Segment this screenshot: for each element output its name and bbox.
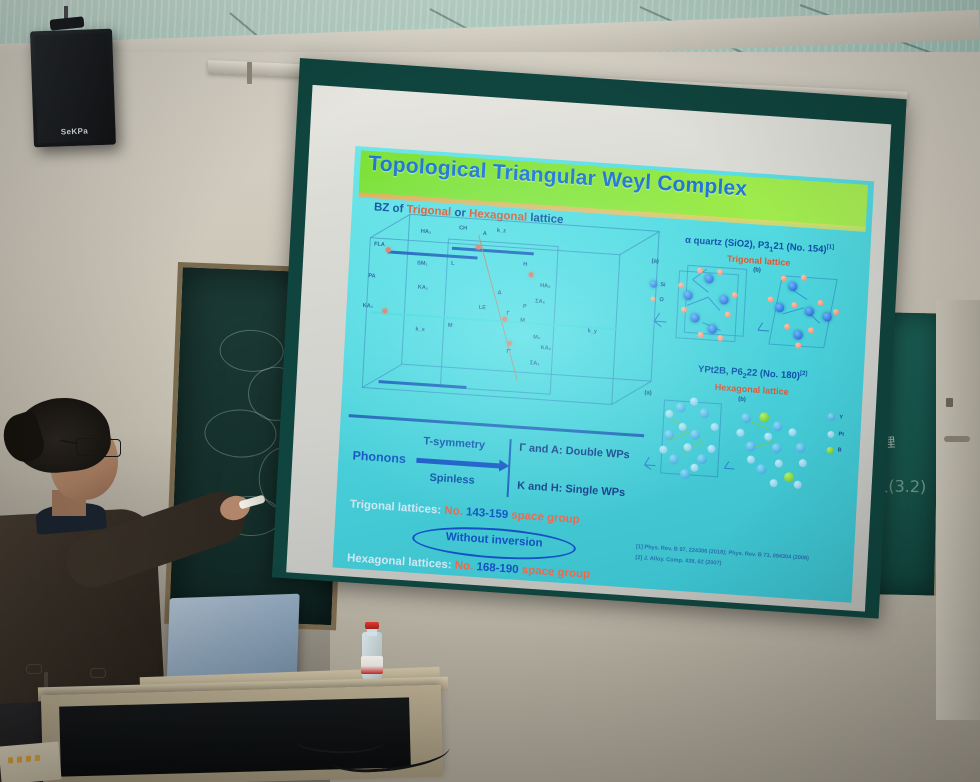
legend-label-pt: Pt: [838, 431, 844, 437]
hexagonal-label: Hexagonal lattices:: [347, 552, 452, 571]
panel-label-b: (b): [753, 267, 761, 274]
legend-dot-pt: [827, 431, 834, 438]
quartz-heading-pre: α quartz (SiO2), P3: [685, 235, 770, 252]
classroom-door[interactable]: [936, 300, 980, 720]
ypt2b-heading-post: 22 (No. 180): [746, 367, 800, 382]
arrow-label-top: T-symmetry: [423, 435, 485, 451]
wall-speaker: SeKPa: [30, 29, 116, 148]
result-single-wps: K and H: Single WPs: [517, 480, 626, 499]
result-double-wps: Γ and A: Double WPs: [519, 442, 630, 462]
panel-label-b: (b): [738, 397, 746, 404]
door-handle[interactable]: [944, 436, 970, 442]
trigonal-no: No.: [444, 505, 463, 518]
presentation-slide: Topological Triangular Weyl Complex BZ o…: [333, 146, 875, 603]
ypt2b-heading-pre: YPt2B, P6: [698, 364, 743, 378]
glasses-bridge: [95, 443, 101, 445]
glasses-lens-right: [99, 439, 121, 457]
glasses-lens-left: [76, 438, 98, 456]
legend-label-b: B: [837, 447, 841, 453]
legend-label-o: O: [659, 297, 664, 303]
legend-dot-b: [826, 447, 833, 454]
glasses-icon: [76, 438, 120, 456]
legend-dot-si: [650, 280, 657, 287]
phonons-label: Phonons: [352, 448, 406, 466]
trigonal-lattice-line: Trigonal lattices: No. 143-159 space gro…: [350, 498, 580, 526]
water-bottle: [360, 622, 384, 680]
hexagonal-spacegroup: space group: [521, 564, 590, 581]
screen-surface: Topological Triangular Weyl Complex BZ o…: [286, 85, 891, 612]
quartz-structure-figure: (a) (b) Si O: [645, 258, 867, 365]
quartz-heading-ref: [1]: [827, 244, 835, 250]
arrow-label-bottom: Spinless: [429, 472, 475, 487]
subtitle-prefix: BZ of: [374, 201, 407, 215]
jacket-pocket: [26, 664, 42, 674]
trigonal-label: Trigonal lattices:: [350, 498, 442, 516]
flow-arrow-icon: [416, 458, 500, 469]
quartz-heading-post: 21 (No. 154): [773, 241, 827, 256]
panel-label-a: (a): [644, 390, 652, 396]
projection-screen: Topological Triangular Weyl Complex BZ o…: [272, 58, 907, 619]
ypt2b-heading-ref: [2]: [800, 371, 808, 377]
hexagonal-range: 168-190: [476, 561, 519, 576]
legend-label-si: Si: [660, 282, 666, 288]
bottle-cap: [365, 622, 379, 629]
panel-label-a: (a): [651, 258, 659, 264]
reference-list: [1] Phys. Rev. B 97, 224306 (2018); Phys…: [635, 542, 850, 578]
lecture-hall-photo: SeKPa 定理 人(3.2) Topological Triangular W…: [0, 0, 980, 782]
screen-hook: [247, 62, 252, 84]
door-lock-icon: [946, 398, 953, 407]
trigonal-range: 143-159: [466, 506, 509, 521]
hexagonal-no: No.: [454, 560, 473, 573]
phonons-flow-block: Phonons T-symmetry Spinless Γ and A: Dou…: [352, 426, 651, 446]
bottle-label: [361, 656, 383, 674]
right-column: α quartz (SiO2), P3121 (No. 154)[1] Trig…: [650, 232, 869, 273]
trigonal-spacegroup: space group: [511, 509, 580, 526]
without-inversion-label: Without inversion: [414, 529, 574, 552]
ypt2b-structure-figure: (a) (b): [637, 390, 860, 501]
legend-dot-o: [650, 296, 655, 301]
brillouin-zone-diagram: HA₁ FLA KA₁ PA SM₁ L KA₁ A H HA₂ ΣA₂ P Δ…: [351, 219, 651, 428]
jacket-pocket: [90, 668, 106, 678]
brace-bar: [507, 439, 512, 497]
legend-label-y: Y: [839, 414, 843, 420]
legend-dot-y: [827, 413, 835, 422]
